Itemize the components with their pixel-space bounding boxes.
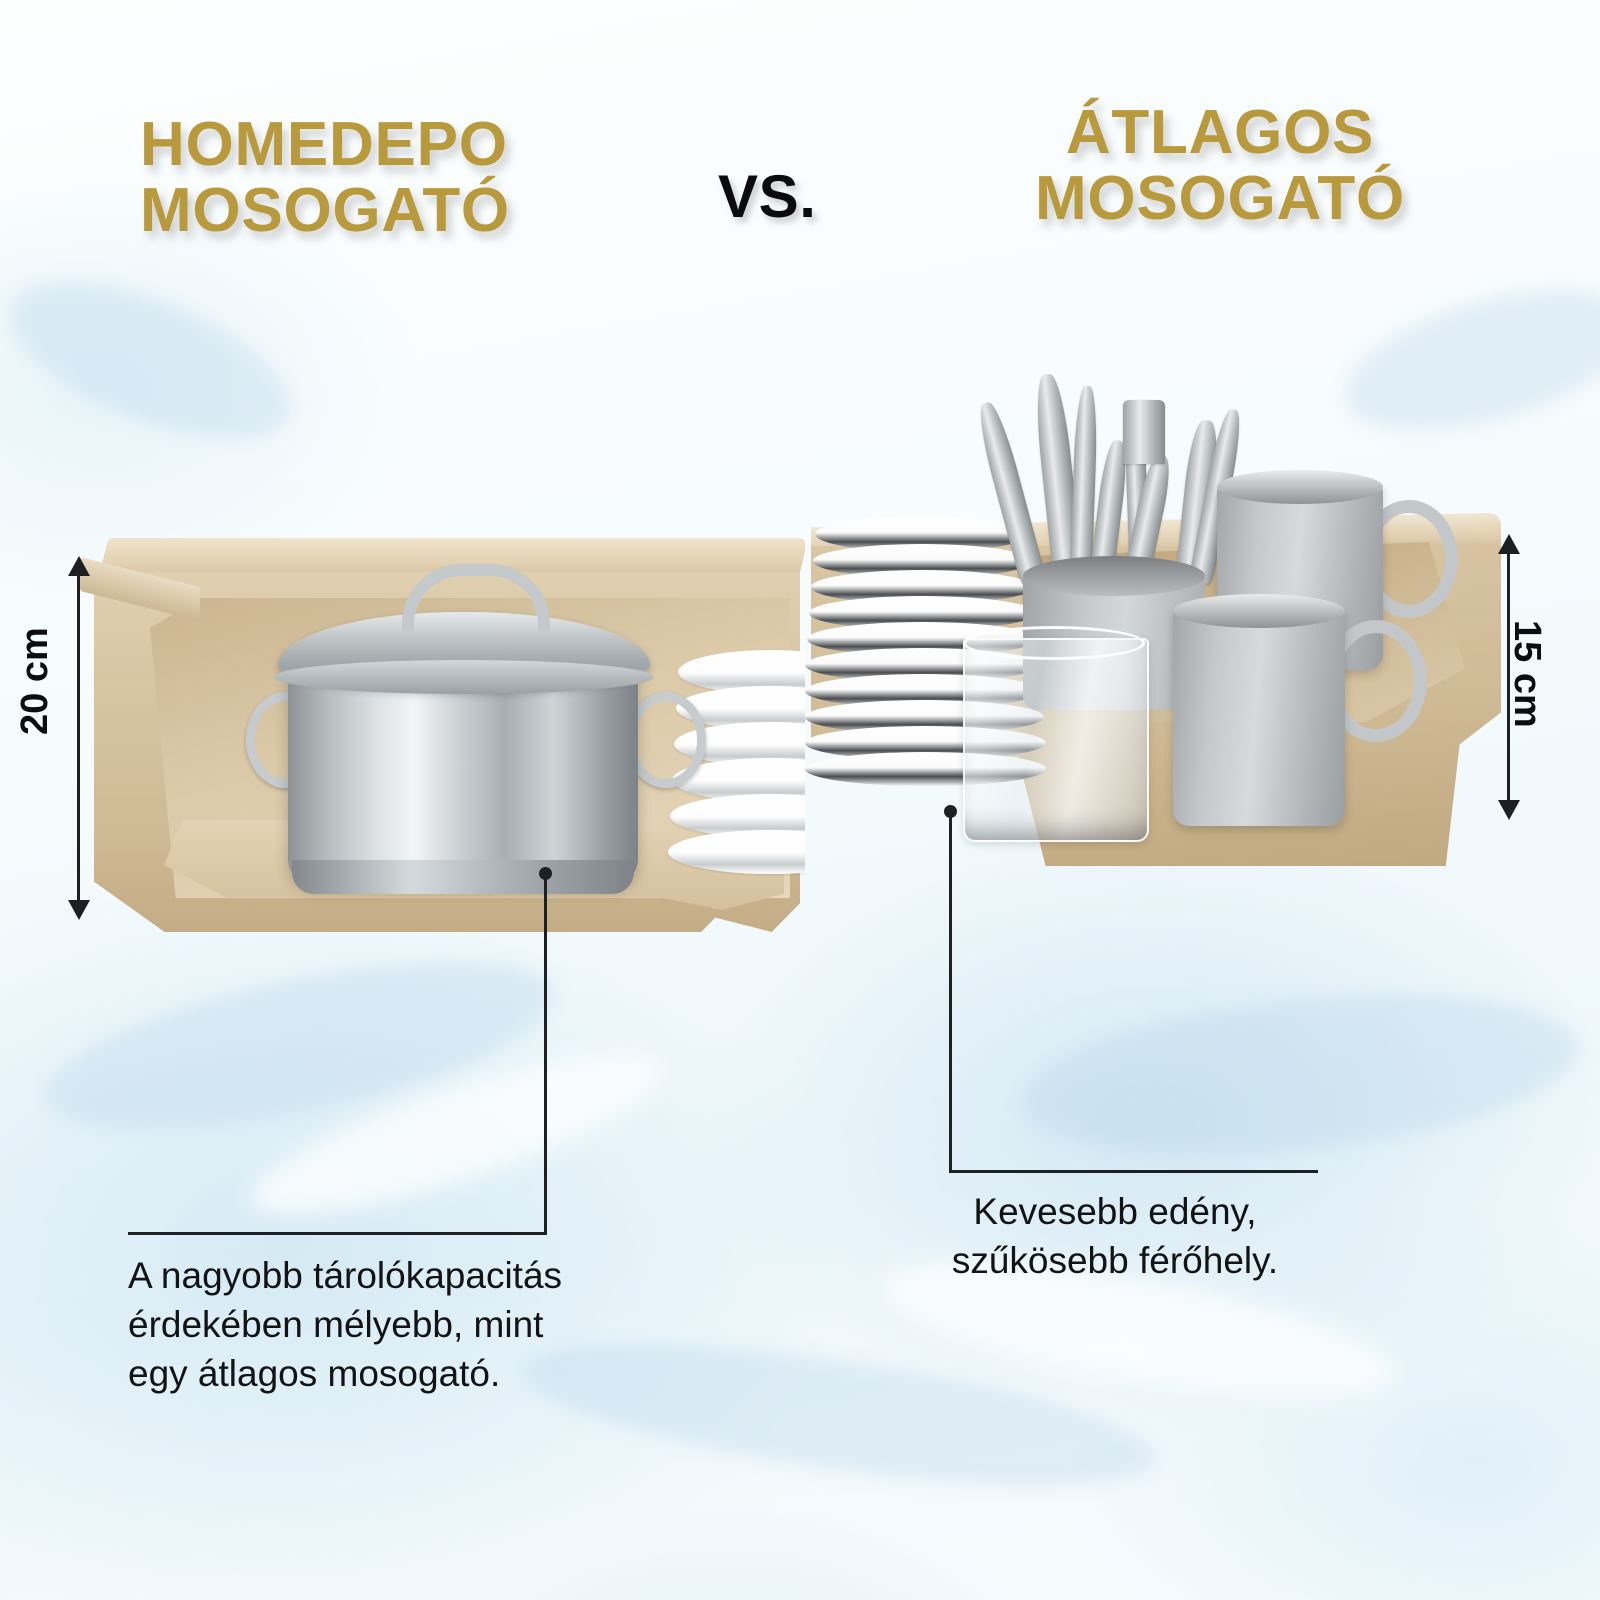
mug-rim-front [1173, 594, 1345, 628]
callout-leader-horizontal-right [949, 1170, 1318, 1173]
fork-head [1123, 400, 1165, 464]
versus-label: VS. [718, 162, 817, 231]
callout-leader-vertical-right [949, 811, 952, 1172]
callout-leader-vertical-left [544, 873, 547, 1234]
dimension-line-left [77, 570, 80, 910]
dimension-arrowhead-down-left [68, 900, 90, 920]
dimension-arrowhead-down-right [1498, 800, 1520, 820]
homedepo-sink-photo [78, 520, 805, 940]
pot-handle-right [626, 692, 706, 788]
callout-leader-horizontal-left [128, 1232, 547, 1235]
glass-rim [963, 626, 1145, 660]
comparison-infographic: HOMEDEPO MOSOGATÓ VS. ÁTLAGOS MOSOGATÓ 2… [0, 0, 1600, 1600]
cutlery-holder-rim [1023, 556, 1205, 596]
stockpot-base [292, 860, 634, 894]
mug-rim-back [1217, 470, 1383, 504]
stockpot-lid-rim [274, 660, 654, 694]
drinking-glass [963, 638, 1149, 842]
mug-front [1173, 606, 1345, 826]
callout-caption-right: Kevesebb edény, szűkösebb férőhely. [905, 1188, 1325, 1286]
callout-caption-left: A nagyobb tárolókapacitás érdekében mély… [128, 1252, 562, 1398]
dimension-label-right: 15 cm [1505, 620, 1548, 728]
page-title-left: HOMEDEPO MOSOGATÓ [140, 112, 510, 243]
average-sink-photo [805, 370, 1505, 870]
page-title-right: ÁTLAGOS MOSOGATÓ [960, 100, 1480, 231]
dimension-label-left: 20 cm [14, 627, 57, 735]
